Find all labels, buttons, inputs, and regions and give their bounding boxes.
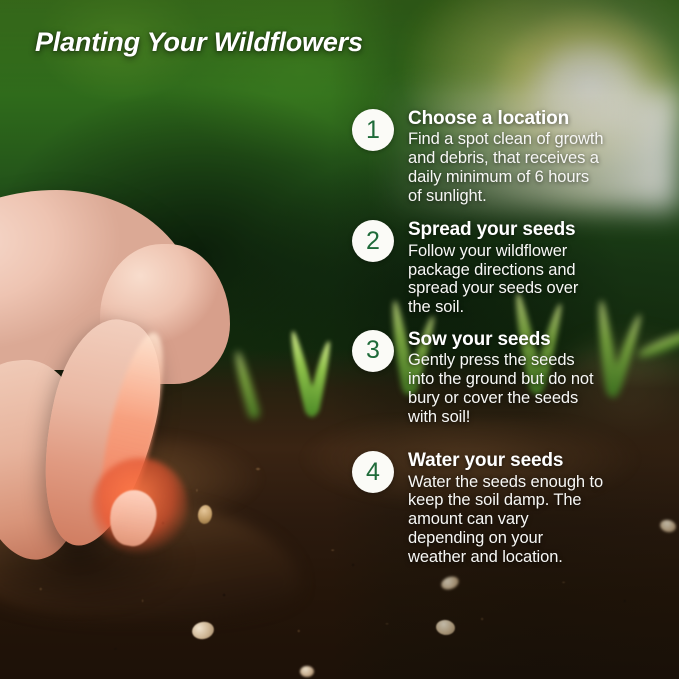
step-heading-3: Sow your seeds: [408, 329, 604, 350]
step-item-3: 3 Sow your seeds Gently press the seeds …: [352, 329, 652, 426]
step-number-badge-2: 2: [352, 220, 394, 262]
step-item-4: 4 Water your seeds Water the seeds enoug…: [352, 450, 652, 566]
infographic-canvas: Planting Your Wildflowers 1 Choose a loc…: [0, 0, 679, 679]
step-heading-2: Spread your seeds: [408, 219, 604, 240]
step-text-1: Find a spot clean of growth and debris, …: [408, 130, 604, 205]
hand-icon: [0, 190, 290, 550]
seed-icon: [300, 666, 314, 677]
step-text-3: Gently press the seeds into the ground b…: [408, 351, 604, 426]
step-number-badge-1: 1: [352, 109, 394, 151]
step-heading-1: Choose a location: [408, 108, 604, 129]
step-body-2: Spread your seeds Follow your wildflower…: [408, 219, 604, 316]
step-text-2: Follow your wildflower package direction…: [408, 242, 604, 317]
page-title: Planting Your Wildflowers: [35, 27, 363, 58]
step-item-2: 2 Spread your seeds Follow your wildflow…: [352, 219, 652, 316]
step-number-badge-3: 3: [352, 330, 394, 372]
step-body-3: Sow your seeds Gently press the seeds in…: [408, 329, 604, 426]
step-item-1: 1 Choose a location Find a spot clean of…: [352, 108, 652, 205]
step-body-1: Choose a location Find a spot clean of g…: [408, 108, 604, 205]
step-heading-4: Water your seeds: [408, 450, 604, 471]
step-text-4: Water the seeds enough to keep the soil …: [408, 473, 604, 567]
step-number-badge-4: 4: [352, 451, 394, 493]
step-body-4: Water your seeds Water the seeds enough …: [408, 450, 604, 566]
steps-list: 1 Choose a location Find a spot clean of…: [352, 108, 652, 581]
